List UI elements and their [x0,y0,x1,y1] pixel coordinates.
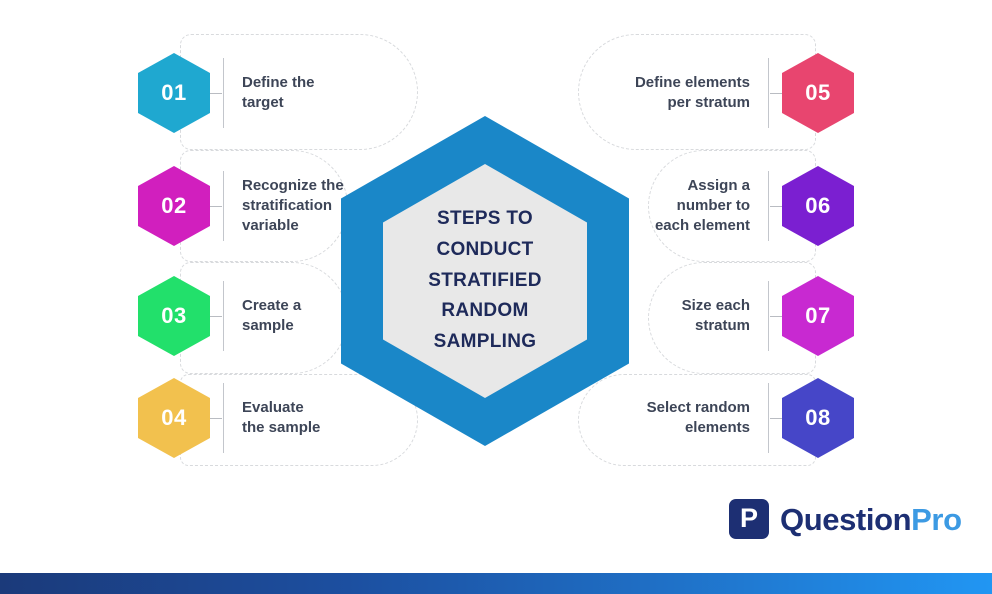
step-number-04: 04 [161,407,186,429]
connector-dash-icon [210,206,222,207]
step-hexagon-05: 05 [782,53,854,133]
step-item-01[interactable]: 01 Define the target [138,53,315,133]
logo-word-pro: Pro [911,502,961,537]
step-hexagon-07: 07 [782,276,854,356]
connector-dash-icon [210,316,222,317]
step-label-06: Assign a number to each element [655,176,758,235]
step-label-08: Select random elements [647,398,758,438]
step-label-04: Evaluate the sample [234,398,320,438]
connector-dash-icon [770,316,782,317]
connector-dash-icon [210,418,222,419]
step-connector-05 [758,58,782,128]
step-hexagon-02: 02 [138,166,210,246]
step-item-05[interactable]: 05 Define elements per stratum [635,53,854,133]
connector-rule-icon [223,383,224,453]
connector-rule-icon [768,171,769,241]
connector-rule-icon [768,383,769,453]
step-connector-08 [758,383,782,453]
connector-rule-icon [768,281,769,351]
step-number-06: 06 [805,195,830,217]
step-item-02[interactable]: 02 Recognize the stratification variable [138,166,344,246]
step-connector-06 [758,171,782,241]
step-label-01: Define the target [234,73,315,113]
bottom-gradient-bar [0,573,992,594]
step-hexagon-03: 03 [138,276,210,356]
step-number-05: 05 [805,82,830,104]
step-hexagon-04: 04 [138,378,210,458]
connector-dash-icon [770,93,782,94]
step-number-01: 01 [161,82,186,104]
step-number-08: 08 [805,407,830,429]
step-number-07: 07 [805,305,830,327]
questionpro-logo-mark-icon: P [729,499,769,539]
step-number-02: 02 [161,195,186,217]
connector-rule-icon [223,281,224,351]
step-item-04[interactable]: 04 Evaluate the sample [138,378,320,458]
step-label-02: Recognize the stratification variable [234,176,344,235]
page-title: STEPS TO CONDUCT STRATIFIED RANDOM SAMPL… [428,204,541,358]
connector-rule-icon [223,171,224,241]
step-hexagon-01: 01 [138,53,210,133]
step-label-07: Size each stratum [682,296,758,336]
connector-rule-icon [768,58,769,128]
step-connector-03 [210,281,234,351]
center-hexagon: STEPS TO CONDUCT STRATIFIED RANDOM SAMPL… [341,116,629,446]
step-label-05: Define elements per stratum [635,73,758,113]
step-connector-07 [758,281,782,351]
logo-word-question: Question [780,502,911,537]
step-connector-02 [210,171,234,241]
step-connector-01 [210,58,234,128]
infographic-canvas: STEPS TO CONDUCT STRATIFIED RANDOM SAMPL… [0,0,992,594]
step-number-03: 03 [161,305,186,327]
questionpro-wordmark: QuestionPro [780,504,962,535]
logo-p-glyph: P [729,499,769,539]
step-item-07[interactable]: 07 Size each stratum [682,276,854,356]
connector-dash-icon [770,418,782,419]
connector-rule-icon [223,58,224,128]
step-item-08[interactable]: 08 Select random elements [647,378,854,458]
step-hexagon-06: 06 [782,166,854,246]
step-connector-04 [210,383,234,453]
step-item-03[interactable]: 03 Create a sample [138,276,301,356]
step-label-03: Create a sample [234,296,301,336]
step-item-06[interactable]: 06 Assign a number to each element [655,166,854,246]
connector-dash-icon [210,93,222,94]
step-hexagon-08: 08 [782,378,854,458]
connector-dash-icon [770,206,782,207]
questionpro-logo[interactable]: P QuestionPro [729,499,962,539]
